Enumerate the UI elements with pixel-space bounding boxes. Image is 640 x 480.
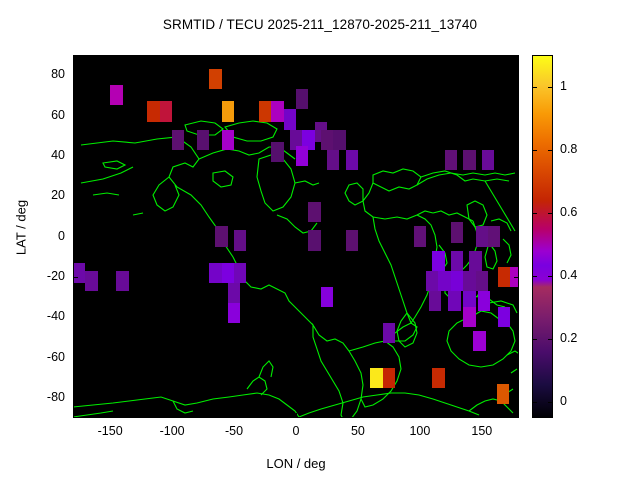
data-cell [346,150,358,170]
data-cell [478,291,490,311]
x-axis-tick-label: -50 [204,424,264,438]
y-axis-title: LAT / deg [14,163,29,293]
colorbar-tick-label: 0.6 [560,205,600,219]
data-cell [370,368,382,388]
data-cell [383,368,395,388]
colorbar-tick-label: 1 [560,79,600,93]
x-axis-tick [234,413,235,418]
data-cell [296,89,308,109]
colorbar-tick-label: 0.4 [560,268,600,282]
data-cell [209,263,221,283]
x-axis-tick-label: -100 [142,424,202,438]
x-axis-tick [358,55,359,60]
x-axis-tick [110,413,111,418]
data-cell [482,150,494,170]
data-cell [451,222,463,242]
colorbar [532,55,553,418]
y-axis-tick-label: -60 [21,350,65,364]
data-cell [228,283,240,303]
data-cell [284,109,296,129]
y-axis-tick [73,317,78,318]
data-cell [438,271,450,291]
data-cell [448,291,460,311]
data-cell [209,69,221,89]
y-axis-tick [514,358,519,359]
data-cell [497,384,509,404]
data-cell [197,130,209,150]
data-cell [476,271,488,291]
y-axis-tick-label: -40 [21,309,65,323]
data-cell [228,303,240,323]
colorbar-tick [532,213,537,214]
colorbar-tick [532,276,537,277]
data-cell [476,226,488,246]
y-axis-tick [73,237,78,238]
data-cell [321,130,333,150]
y-axis-tick [514,196,519,197]
data-cell [147,101,159,121]
x-axis-tick [234,55,235,60]
colorbar-tick [532,150,537,151]
data-cell [308,202,320,222]
data-cell [346,230,358,250]
data-cell [308,230,320,250]
y-axis-tick-label: -80 [21,390,65,404]
data-cell [234,230,246,250]
y-axis-tick [514,398,519,399]
y-axis-tick [73,116,78,117]
colorbar-tick [548,276,553,277]
data-cell [215,226,227,246]
y-axis-tick [514,116,519,117]
x-axis-tick [172,413,173,418]
data-cell [327,150,339,170]
data-cell [73,263,85,283]
data-cell [222,130,234,150]
colorbar-tick [548,213,553,214]
data-cell [498,307,510,327]
x-axis-tick [482,55,483,60]
data-cell [473,331,485,351]
data-cell [85,271,97,291]
data-cell [463,150,475,170]
y-axis-tick-label: 60 [21,108,65,122]
y-axis-tick [73,277,78,278]
map-plot-area [73,55,519,418]
x-axis-tick [420,413,421,418]
colorbar-tick [532,402,537,403]
data-cell [271,101,283,121]
y-axis-tick [514,317,519,318]
data-cell [222,101,234,121]
colorbar-tick [548,87,553,88]
data-cell [110,85,122,105]
data-cell [116,271,128,291]
x-axis-tick [110,55,111,60]
data-cell [333,130,345,150]
data-cell [426,271,438,291]
data-cell [234,263,246,283]
data-cell [383,323,395,343]
x-axis-tick-label: 50 [328,424,388,438]
data-cell [469,251,481,271]
y-axis-tick [514,156,519,157]
data-cell [432,251,444,271]
x-axis-tick [482,413,483,418]
colorbar-tick-label: 0.2 [560,331,600,345]
y-axis-tick [73,196,78,197]
x-axis-tick [296,55,297,60]
data-cell [271,142,283,162]
data-cell [451,251,463,271]
data-cell [488,226,500,246]
data-cell [463,271,475,291]
data-cell [160,101,172,121]
colorbar-tick [548,150,553,151]
x-axis-tick-label: -150 [80,424,140,438]
colorbar-tick [548,402,553,403]
data-cell [414,226,426,246]
colorbar-tick [532,87,537,88]
colorbar-tick-label: 0.8 [560,142,600,156]
data-cell [451,271,463,291]
colorbar-tick [532,339,537,340]
x-axis-tick [296,413,297,418]
y-axis-tick [514,75,519,76]
data-cell [172,130,184,150]
colorbar-tick [548,339,553,340]
y-axis-tick [73,75,78,76]
data-cell [321,287,333,307]
data-cell [259,101,271,121]
colorbar-tick-label: 0 [560,394,600,408]
y-axis-tick [514,277,519,278]
x-axis-tick-label: 100 [390,424,450,438]
y-axis-tick [73,358,78,359]
y-axis-tick [514,237,519,238]
data-cell [463,307,475,327]
data-cell [222,263,234,283]
x-axis-title: LON / deg [0,456,592,471]
x-axis-tick-label: 0 [266,424,326,438]
data-cell [296,146,308,166]
y-axis-tick-label: 40 [21,148,65,162]
x-axis-tick [172,55,173,60]
y-axis-tick [73,156,78,157]
y-axis-tick [73,398,78,399]
x-axis-tick [358,413,359,418]
data-cell [432,368,444,388]
x-axis-tick-label: 150 [452,424,512,438]
data-cell [429,291,441,311]
y-axis-tick-label: 80 [21,67,65,81]
chart-title: SRMTID / TECU 2025-211_12870-2025-211_13… [0,17,640,32]
data-cell [498,267,510,287]
data-cell [445,150,457,170]
x-axis-tick [420,55,421,60]
